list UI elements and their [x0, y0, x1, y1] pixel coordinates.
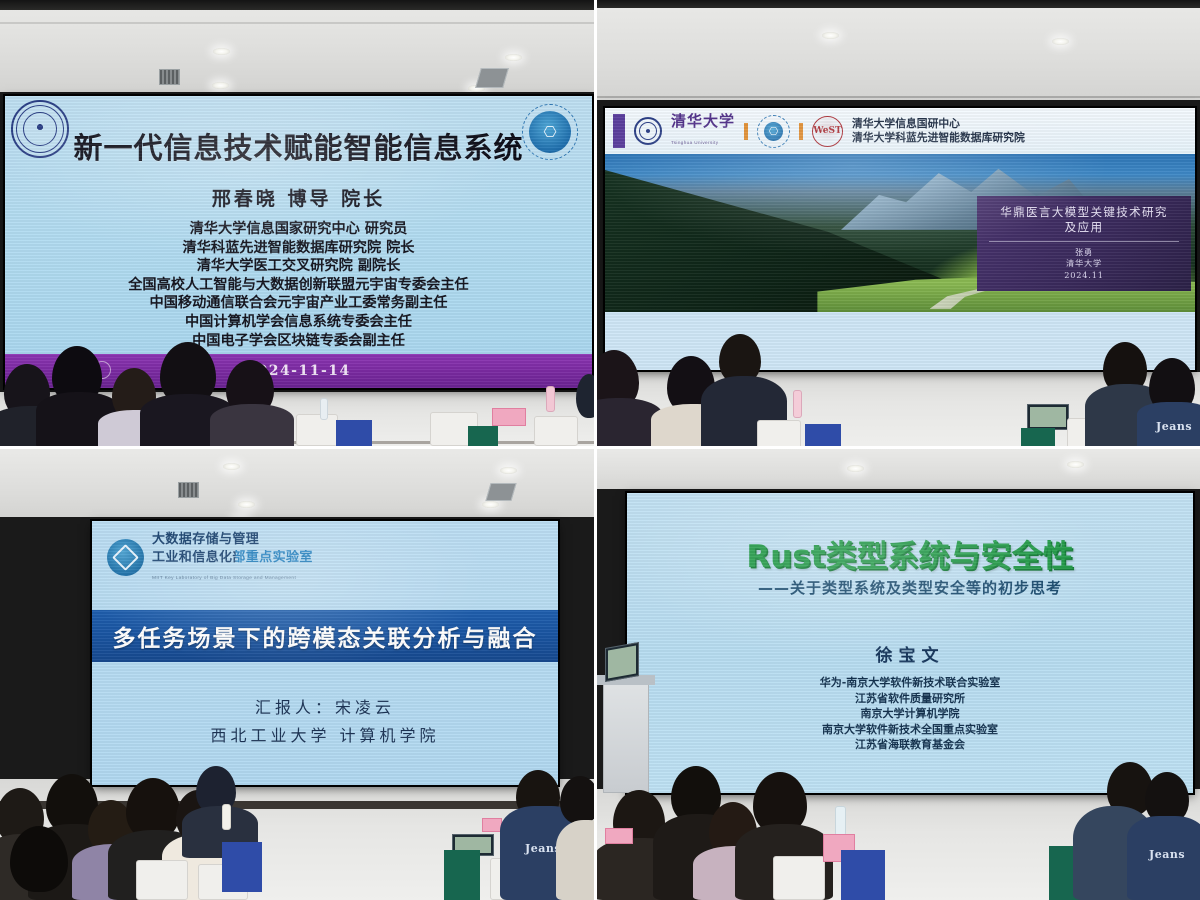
- laptop: [1027, 404, 1069, 430]
- ceiling-vent-icon: [159, 69, 180, 85]
- ceiling: [597, 449, 1200, 493]
- slide-header-orgs: 清华大学信息国研中心 清华大学科蓝先进智能数据库研究院: [852, 117, 1025, 146]
- downlight-icon: [505, 54, 522, 61]
- attendee-body: [1137, 402, 1200, 446]
- attendee-body: [1127, 816, 1200, 900]
- affiliation-line: 清华大学信息国家研究中心 研究员: [5, 220, 592, 239]
- ceiling-vent-icon: [485, 483, 516, 501]
- west-lab-seal-icon: WeST: [812, 116, 843, 147]
- ceiling-vent-icon: [475, 68, 509, 88]
- attendee-head: [10, 826, 68, 892]
- downlight-icon: [482, 501, 499, 508]
- attendee-body: [210, 404, 294, 446]
- blue-circular-institute-logo-icon: ⎔: [757, 115, 790, 148]
- slide-author: 张勇: [985, 247, 1183, 258]
- divider: [989, 241, 1179, 242]
- slide-title-box: 华鼎医言大模型关键技术研究 及应用 张勇 清华大学 2024.11: [977, 196, 1191, 291]
- slide-title-line1: 华鼎医言大模型关键技术研究: [985, 205, 1183, 220]
- accent-tab: [613, 114, 625, 148]
- affiliation-line: 全国高校人工智能与大数据创新联盟元宇宙专委会主任: [5, 276, 592, 295]
- slide-date: 2024.11: [985, 270, 1183, 281]
- tsinghua-wordmark: 清华大学 Tsinghua University: [671, 113, 735, 149]
- slide-title-line2: 及应用: [985, 220, 1183, 235]
- audience-row: [0, 764, 594, 900]
- lab-logo: 大数据存储与管理 工业和信息化部重点实验室 MIIT Key Laborator…: [107, 530, 313, 584]
- lecture-desk: [336, 420, 372, 446]
- water-bottle: [835, 806, 846, 836]
- tsinghua-wordmark-cn: 清华大学: [671, 112, 735, 130]
- affiliation-line: 华为-南京大学软件新技术联合实验室: [627, 675, 1193, 691]
- water-bottle: [320, 398, 328, 420]
- slide-header-bar: 清华大学 Tsinghua University ⎔ WeST 清华大学信息国研…: [605, 108, 1195, 154]
- affiliation-line: 江苏省软件质量研究所: [627, 691, 1193, 707]
- lab-logo-line1: 大数据存储与管理: [152, 532, 259, 547]
- downlight-icon: [1052, 38, 1069, 45]
- slide-speaker: 邢春晓 博导 院长: [5, 184, 592, 211]
- lab-logo-en: MIIT Key Laboratory of Big Data Storage …: [152, 576, 296, 581]
- downlight-icon: [822, 32, 839, 39]
- slide-title: Rust类型系统与安全性: [627, 531, 1193, 576]
- slide-affiliations: 华为-南京大学软件新技术联合实验室 江苏省软件质量研究所 南京大学计算机学院 南…: [627, 675, 1193, 753]
- affiliation-line: 清华科蓝先进智能数据库研究院 院长: [5, 239, 592, 258]
- downlight-icon: [213, 48, 230, 55]
- photo-grid: ⎔ 新一代信息技术赋能智能信息系统 邢春晓 博导 院长 清华大学信息国家研究中心…: [0, 0, 1200, 900]
- slide-presenter: 汇报人：宋凌云: [92, 694, 558, 722]
- ceiling-vent-icon: [178, 482, 199, 498]
- lab-logo-line2: 工业和信息化部重点实验室: [152, 550, 313, 565]
- projection-screen-frame: 大数据存储与管理 工业和信息化部重点实验室 MIIT Key Laborator…: [92, 521, 558, 785]
- slide-affiliation: 西北工业大学 计算机学院: [92, 722, 558, 750]
- downlight-icon: [223, 463, 240, 470]
- ceiling: [0, 0, 594, 92]
- attendee-body: [556, 820, 594, 900]
- name-card: [482, 818, 502, 832]
- slide-org: 清华大学: [985, 258, 1183, 269]
- lecture-desk: [468, 426, 498, 446]
- lecture-desk: [841, 850, 885, 900]
- lab-logo-icon: [107, 539, 144, 576]
- slide-title: 新一代信息技术赋能智能信息系统: [5, 125, 592, 167]
- attendee-head: [576, 374, 594, 418]
- attendee-head: [560, 776, 594, 824]
- downlight-icon: [1067, 461, 1084, 468]
- name-card: [605, 828, 633, 844]
- panel-bottom-left: 大数据存储与管理 工业和信息化部重点实验室 MIIT Key Laborator…: [0, 449, 597, 900]
- name-card: [492, 408, 526, 426]
- lecture-desk: [444, 850, 480, 900]
- downlight-icon: [212, 82, 229, 89]
- projection-screen-frame: Rust类型系统与安全性 ——关于类型系统及类型安全等的初步思考 徐宝文 华为-…: [627, 493, 1193, 793]
- slide-bottom-left: 大数据存储与管理 工业和信息化部重点实验室 MIIT Key Laborator…: [92, 521, 558, 785]
- water-bottle: [222, 804, 231, 830]
- downlight-icon: [500, 467, 517, 474]
- slide-title-band: 多任务场景下的跨模态关联分析与融合: [92, 610, 558, 662]
- slide-title: 多任务场景下的跨模态关联分析与融合: [113, 619, 538, 653]
- panel-top-left: ⎔ 新一代信息技术赋能智能信息系统 邢春晓 博导 院长 清华大学信息国家研究中心…: [0, 0, 597, 449]
- panel-bottom-right: Rust类型系统与安全性 ——关于类型系统及类型安全等的初步思考 徐宝文 华为-…: [597, 449, 1200, 900]
- laptop: [605, 642, 639, 682]
- panel-top-right: 清华大学 Tsinghua University ⎔ WeST 清华大学信息国研…: [597, 0, 1200, 449]
- chair: [136, 860, 188, 900]
- affiliation-line: 中国移动通信联合会元宇宙产业工委常务副主任: [5, 294, 592, 313]
- water-bottle: [546, 386, 555, 412]
- chair: [757, 420, 801, 446]
- audience-row: [0, 328, 594, 446]
- divider: [799, 123, 803, 140]
- org-line: 清华大学科蓝先进智能数据库研究院: [852, 132, 1025, 144]
- divider: [744, 123, 748, 140]
- audience-row: [597, 750, 1200, 900]
- lecture-desk: [222, 842, 262, 892]
- ceiling: [597, 0, 1200, 104]
- slide-speaker: 徐宝文: [627, 641, 1193, 666]
- chair: [296, 414, 338, 446]
- tsinghua-university-logo-icon: [634, 117, 662, 145]
- chair: [534, 416, 578, 446]
- slide-bottom-right: Rust类型系统与安全性 ——关于类型系统及类型安全等的初步思考 徐宝文 华为-…: [627, 493, 1193, 793]
- tsinghua-wordmark-en: Tsinghua University: [671, 140, 718, 145]
- affiliation-line: 清华大学医工交叉研究院 副院长: [5, 257, 592, 276]
- lecture-desk: [1021, 428, 1055, 446]
- affiliation-line: 南京大学计算机学院: [627, 706, 1193, 722]
- ceiling-beam: [0, 0, 594, 10]
- downlight-icon: [847, 465, 864, 472]
- ceiling: [0, 449, 594, 519]
- slide-subtitle: ——关于类型系统及类型安全等的初步思考: [627, 577, 1193, 598]
- chair: [773, 856, 825, 900]
- lecture-desk: [805, 424, 841, 446]
- affiliation-line: 南京大学软件新技术全国重点实验室: [627, 722, 1193, 738]
- audience-row: [597, 328, 1200, 446]
- ceiling-seam: [0, 22, 594, 24]
- water-bottle: [793, 390, 802, 418]
- org-line: 清华大学信息国研中心: [852, 118, 960, 130]
- downlight-icon: [238, 501, 255, 508]
